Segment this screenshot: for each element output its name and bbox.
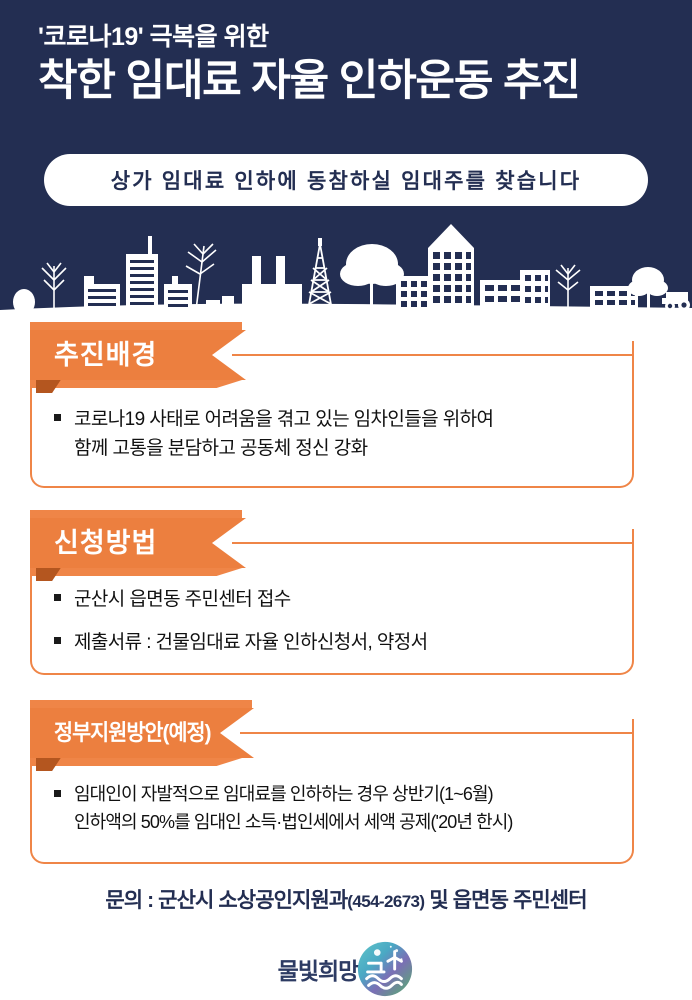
hero-title-group: '코로나19' 극복을 위한 착한 임대료 자율 인하운동 추진 <box>38 22 658 109</box>
ribbon-connector-line <box>232 354 632 356</box>
section-background: 코로나19 사태로 어려움을 겪고 있는 임차인들을 위하여 함께 고통을 분담… <box>0 322 692 388</box>
bullet-item: 임대인이 자발적으로 임대료를 인하하는 경우 상반기(1~6월) 인하액의 5… <box>54 781 612 837</box>
bullet-text-group: 군산시 읍면동 주민센터 접수 <box>74 585 612 614</box>
hero-subtitle: '코로나19' 극복을 위한 <box>38 22 658 53</box>
bullet-line: 코로나19 사태로 어려움을 겪고 있는 임차인들을 위하여 <box>74 409 493 430</box>
bullet-text-group: 코로나19 사태로 어려움을 겪고 있는 임차인들을 위하여 함께 고통을 분담… <box>74 405 612 464</box>
ribbon-top-bar <box>30 700 252 708</box>
ribbon-top-bar <box>30 510 242 518</box>
contact-phone: (454-2673) <box>347 892 424 911</box>
logo-slogan-text: 물빛희망 <box>278 952 359 986</box>
bullet-line: 임대인이 자발적으로 임대료를 인하하는 경우 상반기(1~6월) <box>74 784 493 804</box>
ribbon-bottom-bar <box>30 758 242 766</box>
ribbon-bottom-bar <box>30 380 242 388</box>
bullet-line: 군산시 읍면동 주민센터 접수 <box>74 589 291 610</box>
hero-callout-text: 상가 임대료 인하에 동참하실 임대주를 찾습니다 <box>111 165 582 195</box>
bullet-line: 인하액의 50%를 임대인 소득·법인세에서 세액 공제('20년 한시) <box>74 812 513 832</box>
ribbon-bottom-bar <box>30 568 242 576</box>
section-ribbon-header: 신청방법 <box>0 510 692 576</box>
gunsan-emblem-icon <box>356 940 414 998</box>
hero-main-title: 착한 임대료 자율 인하운동 추진 <box>38 55 658 109</box>
section-background: 임대인이 자발적으로 임대료를 인하하는 경우 상반기(1~6월) 인하액의 5… <box>0 700 692 766</box>
ribbon-label: 정부지원방안(예정) <box>54 722 211 744</box>
bullet-item: 제출서류 : 건물임대료 자율 인하신청서, 약정서 <box>54 628 612 657</box>
hero-callout-pill: 상가 임대료 인하에 동참하실 임대주를 찾습니다 <box>44 154 648 206</box>
bullet-item: 군산시 읍면동 주민센터 접수 <box>54 585 612 614</box>
ribbon-label: 신청방법 <box>54 530 157 557</box>
ribbon-banner: 추진배경 <box>30 330 246 380</box>
bullet-square-icon <box>54 414 61 421</box>
bullet-square-icon <box>54 637 61 644</box>
section-ribbon-header: 추진배경 <box>0 322 692 388</box>
ribbon-banner: 정부지원방안(예정) <box>30 708 254 758</box>
city-skyline-illustration <box>0 218 692 318</box>
bullet-square-icon <box>54 790 61 797</box>
section-background: 군산시 읍면동 주민센터 접수 제출서류 : 건물임대료 자율 인하신청서, 약… <box>0 510 692 576</box>
city-logo: 물빛희망 <box>0 940 692 998</box>
ribbon-top-bar <box>30 322 242 330</box>
contact-line: 문의 : 군산시 소상공인지원과(454-2673) 및 읍면동 주민센터 <box>0 884 692 914</box>
contact-suffix: 및 읍면동 주민센터 <box>424 889 586 912</box>
bullet-line: 제출서류 : 건물임대료 자율 인하신청서, 약정서 <box>74 632 427 653</box>
section-ribbon-header: 정부지원방안(예정) <box>0 700 692 766</box>
hero-banner: '코로나19' 극복을 위한 착한 임대료 자율 인하운동 추진 상가 임대료 … <box>0 0 692 318</box>
ribbon-label: 추진배경 <box>54 342 157 369</box>
ribbon-banner: 신청방법 <box>30 518 246 568</box>
ribbon-connector-line <box>232 542 632 544</box>
bullet-text-group: 임대인이 자발적으로 임대료를 인하하는 경우 상반기(1~6월) 인하액의 5… <box>74 781 612 837</box>
bullet-line: 함께 고통을 분담하고 공동체 정신 강화 <box>74 438 367 459</box>
bullet-item: 코로나19 사태로 어려움을 겪고 있는 임차인들을 위하여 함께 고통을 분담… <box>54 405 612 464</box>
ribbon-connector-line <box>240 732 632 734</box>
bullet-square-icon <box>54 594 61 601</box>
bullet-text-group: 제출서류 : 건물임대료 자율 인하신청서, 약정서 <box>74 628 612 657</box>
contact-prefix: 문의 : 군산시 소상공인지원과 <box>105 889 347 912</box>
